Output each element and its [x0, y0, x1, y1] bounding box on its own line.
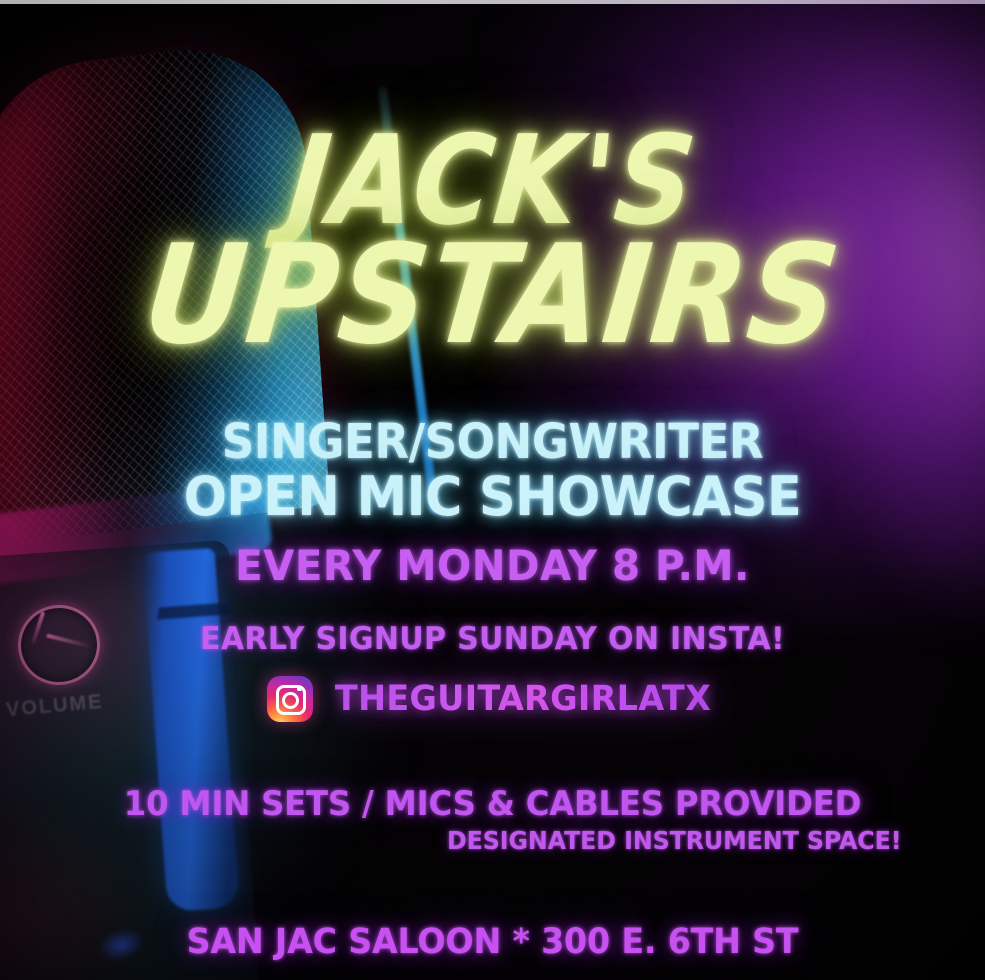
details-line-1: 10 MIN SETS / MICS & CABLES PROVIDED: [25, 784, 961, 824]
instagram-icon[interactable]: [267, 676, 313, 722]
instagram-row[interactable]: THEGUITARGIRLATX: [0, 676, 985, 722]
event-headline-line-2: OPEN MIC SHOWCASE: [30, 470, 956, 524]
details-line-2: DESIGNATED INSTRUMENT SPACE!: [25, 826, 961, 855]
flyer-content: JACK'S UPSTAIRS SINGER/SONGWRITER OPEN M…: [0, 0, 985, 980]
instagram-lens-shape: [282, 692, 299, 709]
signup-text: EARLY SIGNUP SUNDAY ON INSTA!: [15, 624, 970, 655]
instagram-handle[interactable]: THEGUITARGIRLATX: [334, 682, 710, 717]
top-border-strip: [0, 0, 985, 4]
venue-title-line-2: UPSTAIRS: [0, 228, 985, 365]
flyer-canvas: VOLUME JACK'S UPSTAIRS SINGER/SONGWRITER…: [0, 0, 985, 980]
instagram-dot-shape: [297, 687, 301, 691]
venue-address: SAN JAC SALOON * 300 E. 6TH ST: [25, 922, 961, 962]
event-headline-line-1: SINGER/SONGWRITER: [30, 418, 956, 466]
schedule-text: EVERY MONDAY 8 P.M.: [20, 545, 966, 587]
